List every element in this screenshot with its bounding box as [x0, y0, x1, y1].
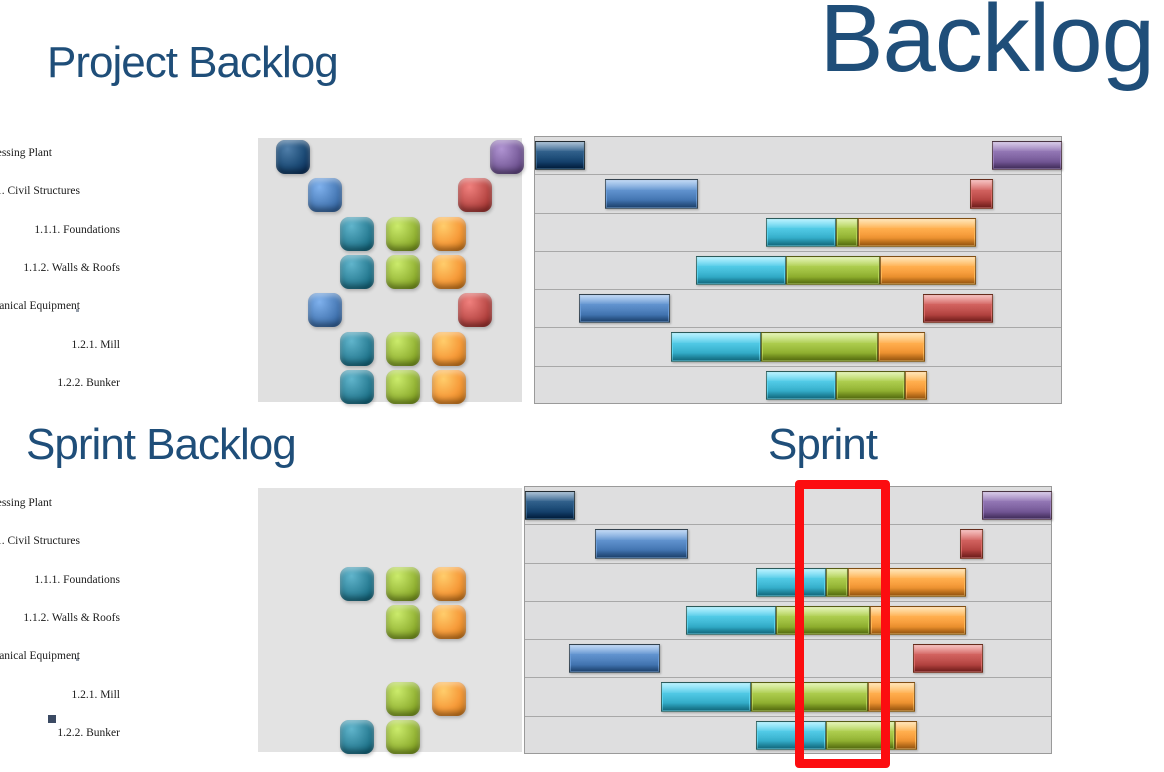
backlog-cube[interactable] [386, 370, 420, 404]
gantt-bar[interactable] [535, 141, 585, 170]
gantt-bar[interactable] [569, 644, 661, 673]
backlog-cube[interactable] [386, 332, 420, 366]
section-title-sprint: Sprint [768, 420, 877, 470]
backlog-cube[interactable] [432, 255, 466, 289]
gantt-row [525, 602, 1051, 640]
project-backlog-gantt [534, 136, 1062, 404]
gantt-bar[interactable] [766, 371, 836, 400]
project-backlog-cube-panel [258, 138, 522, 402]
task-label: 1.1.2. Walls & Roofs [23, 262, 120, 274]
gantt-row [525, 717, 1051, 755]
backlog-cube[interactable] [432, 370, 466, 404]
gantt-row [535, 290, 1061, 328]
gantt-bar[interactable] [858, 218, 977, 247]
sprint-backlog-board: 1. Processing Plant1.1. Civil Structures… [0, 486, 1164, 754]
backlog-cube[interactable] [308, 293, 342, 327]
backlog-cube[interactable] [432, 217, 466, 251]
gantt-bar[interactable] [982, 491, 1052, 520]
backlog-cube[interactable] [340, 720, 374, 754]
backlog-cube[interactable] [340, 217, 374, 251]
gantt-bar[interactable] [696, 256, 786, 285]
gantt-row [535, 137, 1061, 175]
gantt-bar[interactable] [579, 294, 671, 323]
gantt-bar[interactable] [605, 179, 699, 208]
task-label: 1.1.1. Foundations [34, 574, 120, 586]
task-label-column-bottom: 1. Processing Plant1.1. Civil Structures… [0, 486, 180, 754]
task-label: 1.1. Civil Structures [0, 535, 80, 547]
task-label: 1.1.1. Foundations [34, 224, 120, 236]
gantt-row [525, 525, 1051, 563]
gantt-row [525, 678, 1051, 716]
gantt-bar[interactable] [525, 491, 575, 520]
backlog-cube[interactable] [340, 332, 374, 366]
gantt-row [525, 640, 1051, 678]
backlog-cube[interactable] [386, 255, 420, 289]
task-label: 1.2.1. Mill [71, 338, 120, 350]
gantt-bar[interactable] [836, 218, 858, 247]
gantt-row [525, 564, 1051, 602]
project-backlog-board: 1. Processing Plant1.1. Civil Structures… [0, 136, 1164, 404]
gantt-row [535, 214, 1061, 252]
backlog-cube[interactable] [458, 178, 492, 212]
gantt-bar[interactable] [878, 332, 925, 361]
task-label: 1. Processing Plant [0, 147, 52, 159]
backlog-cube[interactable] [386, 682, 420, 716]
task-label: 1.2 Mechanical Equipment [0, 300, 80, 312]
gantt-bar[interactable] [761, 332, 878, 361]
backlog-cube[interactable] [490, 140, 524, 174]
gantt-bar[interactable] [836, 371, 905, 400]
gantt-bar[interactable] [960, 529, 983, 558]
backlog-cube[interactable] [276, 140, 310, 174]
task-label: 1.2.2. Bunker [57, 377, 120, 389]
backlog-cube[interactable] [308, 178, 342, 212]
backlog-cube[interactable] [432, 332, 466, 366]
gantt-row [535, 328, 1061, 366]
backlog-cube[interactable] [386, 217, 420, 251]
gantt-bar[interactable] [880, 256, 977, 285]
gantt-bar[interactable] [671, 332, 761, 361]
gantt-bar[interactable] [595, 529, 689, 558]
gantt-row [535, 252, 1061, 290]
backlog-cube[interactable] [340, 567, 374, 601]
gantt-bar[interactable] [766, 218, 836, 247]
gantt-bar[interactable] [786, 256, 880, 285]
backlog-cube[interactable] [432, 605, 466, 639]
task-label: 1. Processing Plant [0, 497, 52, 509]
sprint-gantt [524, 486, 1052, 754]
task-label: 1.2.2. Bunker [57, 727, 120, 739]
backlog-cube[interactable] [340, 255, 374, 289]
sprint-backlog-cube-panel [258, 488, 522, 752]
gantt-bar[interactable] [970, 179, 993, 208]
task-label: 1.1.2. Walls & Roofs [23, 612, 120, 624]
task-label: 1.2.1. Mill [71, 688, 120, 700]
gantt-bar[interactable] [905, 371, 927, 400]
slide-canvas: Backlog Project Backlog Sprint Backlog S… [0, 0, 1164, 772]
task-label-column-top: 1. Processing Plant1.1. Civil Structures… [0, 136, 180, 404]
backlog-cube[interactable] [340, 370, 374, 404]
page-title-backlog: Backlog [819, 0, 1154, 94]
backlog-cube[interactable] [386, 567, 420, 601]
backlog-cube[interactable] [458, 293, 492, 327]
gantt-bar[interactable] [992, 141, 1062, 170]
gantt-bar[interactable] [923, 294, 994, 323]
backlog-cube[interactable] [432, 567, 466, 601]
gantt-row [535, 175, 1061, 213]
task-label: 1.1. Civil Structures [0, 185, 80, 197]
section-title-sprint-backlog: Sprint Backlog [26, 420, 296, 470]
gantt-bar[interactable] [913, 644, 984, 673]
task-label: 1.2 Mechanical Equipment [0, 650, 80, 662]
section-title-project-backlog: Project Backlog [47, 38, 338, 88]
backlog-cube[interactable] [386, 720, 420, 754]
backlog-cube[interactable] [432, 682, 466, 716]
backlog-cube[interactable] [386, 605, 420, 639]
gantt-row [525, 487, 1051, 525]
gantt-bar[interactable] [686, 606, 776, 635]
sprint-window-highlight[interactable] [795, 480, 890, 768]
gantt-bar[interactable] [895, 721, 917, 750]
gantt-row [535, 367, 1061, 405]
gantt-bar[interactable] [661, 682, 751, 711]
